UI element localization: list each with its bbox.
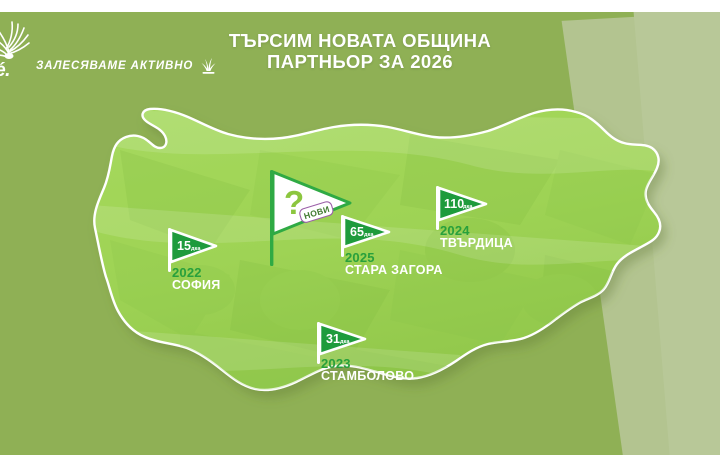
marker-caption-stara-zagora: 2025 СТАРА ЗАГОРА (345, 251, 443, 277)
top-white-strip (0, 0, 720, 12)
bottom-white-strip (0, 455, 720, 475)
marker-year-sofia: 2022 (172, 266, 221, 279)
marker-year-tvarditsa: 2024 (440, 224, 513, 237)
marker-city-tvarditsa: ТВЪРДИЦА (440, 237, 513, 250)
flag-area-stara-zagora: 65 (350, 225, 364, 239)
title-line-1: ТЪРСИМ НОВАТА ОБЩИНА (229, 30, 491, 51)
flag-area-sofia: 15 (177, 239, 191, 253)
marker-city-sofia: СОФИЯ (172, 279, 221, 292)
marker-year-stambolovo: 2023 (321, 357, 414, 370)
title-line-2: ПАРТНЬОР ЗА 2026 (0, 51, 720, 72)
flag-unit-sofia: дка (191, 246, 201, 252)
flag-unit-stambolovo: дка (340, 339, 350, 345)
marker-caption-stambolovo: 2023 СТАМБОЛОВО (321, 357, 414, 383)
marker-caption-tvarditsa: 2024 ТВЪРДИЦА (440, 224, 513, 250)
flag-unit-stara-zagora: дка (364, 232, 374, 238)
flag-area-tvarditsa: 110 (444, 197, 464, 211)
marker-caption-sofia: 2022 СОФИЯ (172, 266, 221, 292)
flag-unit-tvarditsa: дка (463, 204, 473, 210)
campaign-poster: dé. ЗАЛЕСЯВАМЕ АКТИВНО ТЪРСИМ НОВАТА ОБЩ… (0, 0, 720, 475)
marker-city-stara-zagora: СТАРА ЗАГОРА (345, 264, 443, 277)
marker-city-stambolovo: СТАМБОЛОВО (321, 370, 414, 383)
marker-year-stara-zagora: 2025 (345, 251, 443, 264)
flag-area-stambolovo: 31 (326, 332, 340, 346)
page-title: ТЪРСИМ НОВАТА ОБЩИНА ПАРТНЬОР ЗА 2026 (0, 30, 720, 72)
